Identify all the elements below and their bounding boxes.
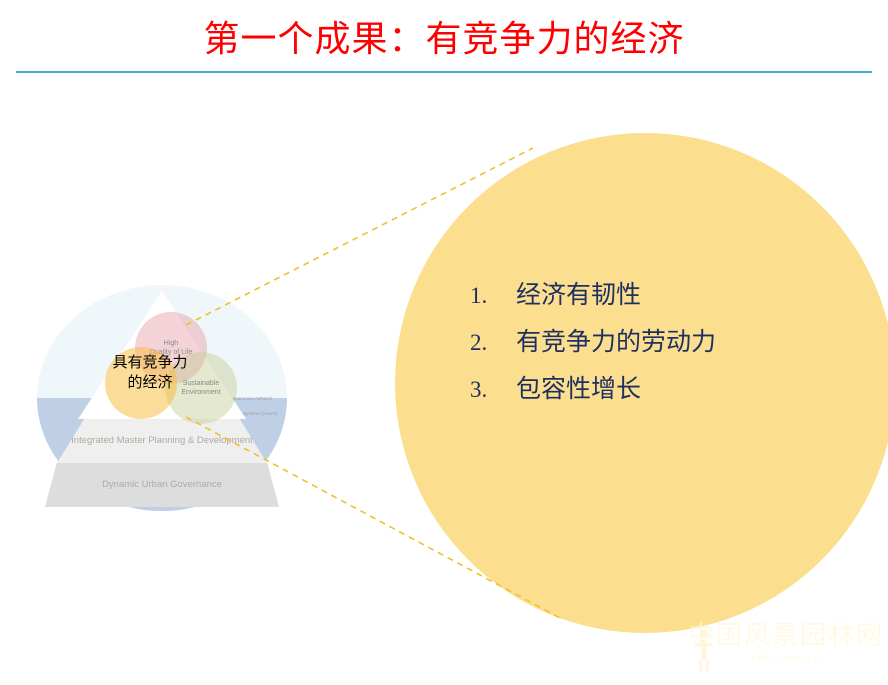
side-note-systems: Systems (How's) (243, 411, 277, 416)
callout-line-1: 具有竞争力 (95, 353, 205, 373)
watermark: 中国风景园林网 chla.com.cn (688, 622, 884, 682)
list-item: 3. 包容性增长 (470, 376, 810, 405)
list-item: 2. 有竞争力的劳动力 (470, 329, 810, 358)
competitive-economy-callout: 具有竞争力 的经济 (95, 353, 205, 394)
list-item-number: 3. (470, 377, 516, 403)
watermark-url-text: chla.com.cn (688, 650, 884, 665)
outcomes-list: 1. 经济有韧性 2. 有竞争力的劳动力 3. 包容性增长 (470, 282, 810, 422)
framework-diagram: Integrated Master Planning & Development… (37, 285, 287, 511)
pyramid-band-label: Dynamic Urban Governance (90, 479, 234, 491)
page-title: 第一个成果：有竞争力的经济 (203, 10, 684, 62)
list-item-number: 1. (470, 283, 516, 309)
title-divider (16, 71, 872, 73)
pyramid-band-urban-governance: Dynamic Urban Governance (45, 463, 279, 507)
list-item-label: 经济有韧性 (516, 282, 641, 311)
list-item-label: 包容性增长 (516, 376, 641, 405)
side-note-outcomes: Outcomes (What's) (233, 396, 272, 401)
pyramid-band-master-planning: Integrated Master Planning & Development (57, 419, 267, 463)
list-item-number: 2. (470, 330, 516, 356)
watermark-figure-icon (694, 628, 714, 672)
list-item-label: 有竞争力的劳动力 (516, 329, 716, 358)
callout-line-2: 的经济 (95, 373, 205, 393)
slide-canvas: 第一个成果：有竞争力的经济 1. 经济有韧性 2. 有竞争力的劳动力 3. 包容… (0, 0, 888, 685)
watermark-chinese-text: 中国风景园林网 (688, 622, 884, 649)
title-block: 第一个成果：有竞争力的经济 (0, 0, 888, 72)
pyramid-band-label: Integrated Master Planning & Development (59, 435, 265, 447)
list-item: 1. 经济有韧性 (470, 282, 810, 311)
